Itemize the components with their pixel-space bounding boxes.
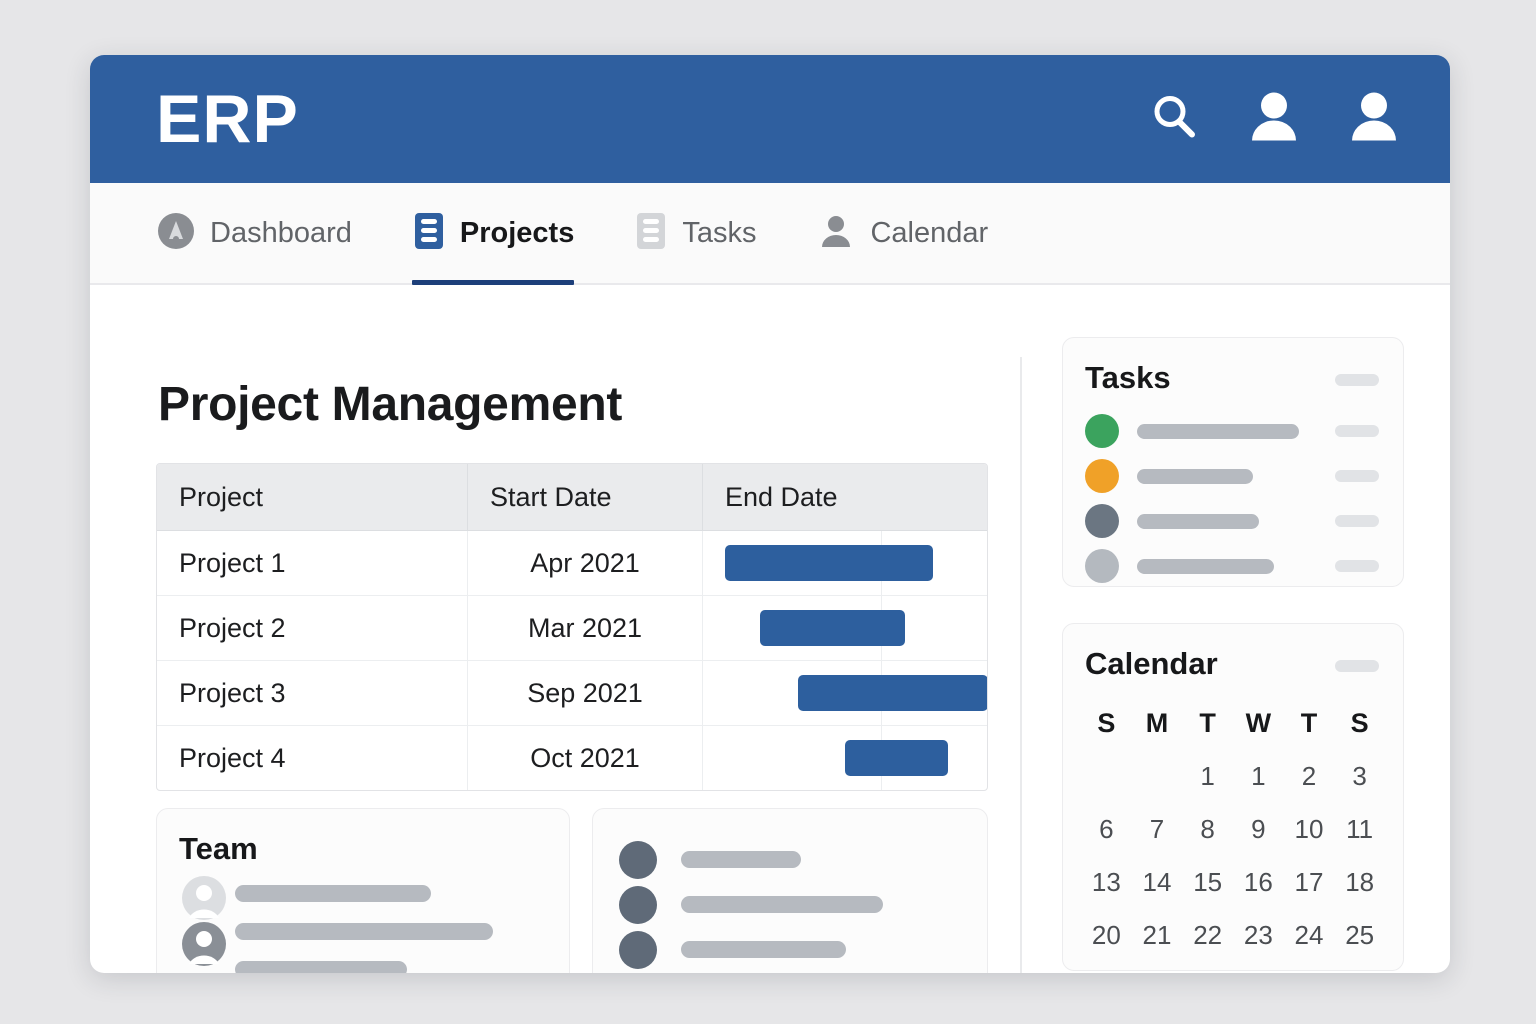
cell-gantt — [703, 596, 989, 661]
account-icon[interactable] — [1346, 89, 1402, 150]
calendar-day-cell[interactable]: 28 — [1132, 967, 1183, 973]
calendar-panel: Calendar SMTWTS 112367891011131415161718… — [1062, 623, 1404, 971]
calendar-day-cell[interactable]: 6 — [1081, 808, 1132, 850]
cell-gantt — [703, 661, 989, 726]
bullet-dot — [619, 841, 657, 879]
calendar-day-cell[interactable]: 7 — [1132, 808, 1183, 850]
cell-start-date: Mar 2021 — [468, 596, 703, 661]
page-title: Project Management — [158, 377, 622, 432]
task-placeholder-bar — [1137, 559, 1274, 574]
calendar-day-empty — [1132, 755, 1183, 797]
gantt-bar[interactable] — [845, 740, 948, 776]
list-placeholder-bar — [681, 896, 883, 913]
tab-calendar-label: Calendar — [870, 217, 988, 250]
calendar-day-empty — [1081, 755, 1132, 797]
cell-project-name: Project 4 — [157, 726, 468, 791]
tasks-panel: Tasks — [1062, 337, 1404, 587]
calendar-day-cell[interactable]: 22 — [1182, 914, 1233, 956]
calendar-day-cell[interactable]: 23 — [1233, 914, 1284, 956]
calendar-day-cell[interactable]: 20 — [1081, 914, 1132, 956]
tab-dashboard[interactable]: Dashboard — [156, 183, 412, 283]
list-placeholder-bar — [681, 941, 846, 958]
task-status-dot[interactable] — [1085, 549, 1119, 583]
table-row[interactable]: Project 2Mar 2021 — [157, 596, 988, 661]
bullet-dot — [619, 931, 657, 969]
calendar-day-cell[interactable]: 21 — [1132, 914, 1183, 956]
tab-tasks-label: Tasks — [682, 217, 756, 250]
user-icon — [816, 211, 856, 256]
calendar-day-header: T — [1182, 702, 1233, 744]
calendar-day-cell[interactable]: 30 — [1233, 967, 1284, 973]
list-panel-icon — [412, 211, 446, 256]
projects-table: Project Start Date End Date Project 1Apr… — [156, 463, 988, 791]
gantt-bar[interactable] — [760, 610, 905, 646]
cell-project-name: Project 1 — [157, 531, 468, 596]
table-row[interactable]: Project 4Oct 2021 — [157, 726, 988, 791]
app-window: ERP — [90, 55, 1450, 973]
cell-start-date: Oct 2021 — [468, 726, 703, 791]
task-meta-pill — [1335, 425, 1379, 437]
task-placeholder-bar — [1137, 514, 1259, 529]
task-placeholder-bar — [1137, 424, 1299, 439]
activity-list-panel — [592, 808, 988, 973]
avatar-icon — [181, 921, 227, 972]
calendar-day-header: T — [1284, 702, 1335, 744]
calendar-day-cell[interactable]: 16 — [1233, 861, 1284, 903]
calendar-day-cell[interactable]: 8 — [1182, 808, 1233, 850]
cell-project-name: Project 2 — [157, 596, 468, 661]
tab-tasks[interactable]: Tasks — [634, 183, 816, 283]
app-logo: ERP — [156, 85, 299, 153]
task-status-dot[interactable] — [1085, 504, 1119, 538]
tab-projects[interactable]: Projects — [412, 183, 634, 283]
calendar-day-cell[interactable]: 17 — [1284, 861, 1335, 903]
app-header: ERP — [90, 55, 1450, 183]
calendar-day-header: S — [1081, 702, 1132, 744]
calendar-day-cell[interactable]: 25 — [1334, 914, 1385, 956]
tab-bar: Dashboard Projects — [90, 183, 1450, 285]
column-header-end-date[interactable]: End Date — [703, 464, 989, 531]
gantt-bar[interactable] — [798, 675, 988, 711]
team-placeholder-bar — [235, 961, 407, 973]
tab-dashboard-label: Dashboard — [210, 217, 352, 250]
table-row[interactable]: Project 1Apr 2021 — [157, 531, 988, 596]
bullet-dot — [619, 886, 657, 924]
task-meta-pill — [1335, 470, 1379, 482]
team-placeholder-bar — [235, 885, 431, 902]
task-status-dot[interactable] — [1085, 414, 1119, 448]
calendar-panel-title: Calendar — [1085, 646, 1218, 682]
avatar-icon — [181, 875, 227, 926]
calendar-day-cell[interactable]: 24 — [1284, 914, 1335, 956]
cell-gantt — [703, 726, 989, 791]
calendar-day-cell[interactable]: 10 — [1284, 808, 1335, 850]
list-panel-icon — [634, 211, 668, 256]
calendar-grid: SMTWTS 112367891011131415161718202122232… — [1081, 702, 1385, 973]
app-root: ERP — [0, 0, 1536, 1024]
table-header-row: Project Start Date End Date — [157, 464, 988, 531]
task-meta-pill — [1335, 560, 1379, 572]
content-divider — [1020, 357, 1022, 973]
calendar-day-header: W — [1233, 702, 1284, 744]
task-placeholder-bar — [1137, 469, 1253, 484]
calendar-day-cell[interactable]: 2 — [1284, 755, 1335, 797]
calendar-day-cell[interactable]: 18 — [1334, 861, 1385, 903]
tasks-header-pill — [1335, 374, 1379, 386]
column-header-start-date[interactable]: Start Date — [468, 464, 703, 531]
team-panel-title: Team — [179, 831, 258, 867]
search-icon[interactable] — [1146, 89, 1202, 150]
page-body: Project Management Project Start Date En… — [90, 285, 1450, 973]
cell-gantt — [703, 531, 989, 596]
team-placeholder-bar — [235, 923, 493, 940]
calendar-day-cell[interactable]: 14 — [1132, 861, 1183, 903]
gantt-bar[interactable] — [725, 545, 933, 581]
list-placeholder-bar — [681, 851, 801, 868]
table-body: Project 1Apr 2021Project 2Mar 2021Projec… — [157, 531, 988, 791]
calendar-day-cell[interactable]: 3 — [1334, 755, 1385, 797]
cell-start-date: Apr 2021 — [468, 531, 703, 596]
gauge-icon — [156, 211, 196, 256]
calendar-day-empty — [1284, 967, 1335, 973]
tab-calendar[interactable]: Calendar — [816, 183, 1048, 283]
calendar-day-cell[interactable]: 29 — [1182, 967, 1233, 973]
calendar-day-header: S — [1334, 702, 1385, 744]
header-actions — [1146, 89, 1402, 150]
tab-projects-label: Projects — [460, 217, 574, 250]
calendar-day-empty — [1334, 967, 1385, 973]
user-icon[interactable] — [1246, 89, 1302, 150]
task-status-dot[interactable] — [1085, 459, 1119, 493]
task-meta-pill — [1335, 515, 1379, 527]
calendar-day-cell[interactable]: 15 — [1182, 861, 1233, 903]
calendar-day-cell[interactable]: 27 — [1081, 967, 1132, 973]
cell-project-name: Project 3 — [157, 661, 468, 726]
team-panel: Team — [156, 808, 570, 973]
calendar-day-cell[interactable]: 13 — [1081, 861, 1132, 903]
calendar-day-cell[interactable]: 11 — [1334, 808, 1385, 850]
cell-start-date: Sep 2021 — [468, 661, 703, 726]
calendar-day-cell[interactable]: 1 — [1182, 755, 1233, 797]
column-header-project[interactable]: Project — [157, 464, 468, 531]
calendar-day-header: M — [1132, 702, 1183, 744]
calendar-day-cell[interactable]: 9 — [1233, 808, 1284, 850]
table-row[interactable]: Project 3Sep 2021 — [157, 661, 988, 726]
calendar-header-pill — [1335, 660, 1379, 672]
calendar-day-cell[interactable]: 1 — [1233, 755, 1284, 797]
tasks-panel-title: Tasks — [1085, 360, 1171, 396]
